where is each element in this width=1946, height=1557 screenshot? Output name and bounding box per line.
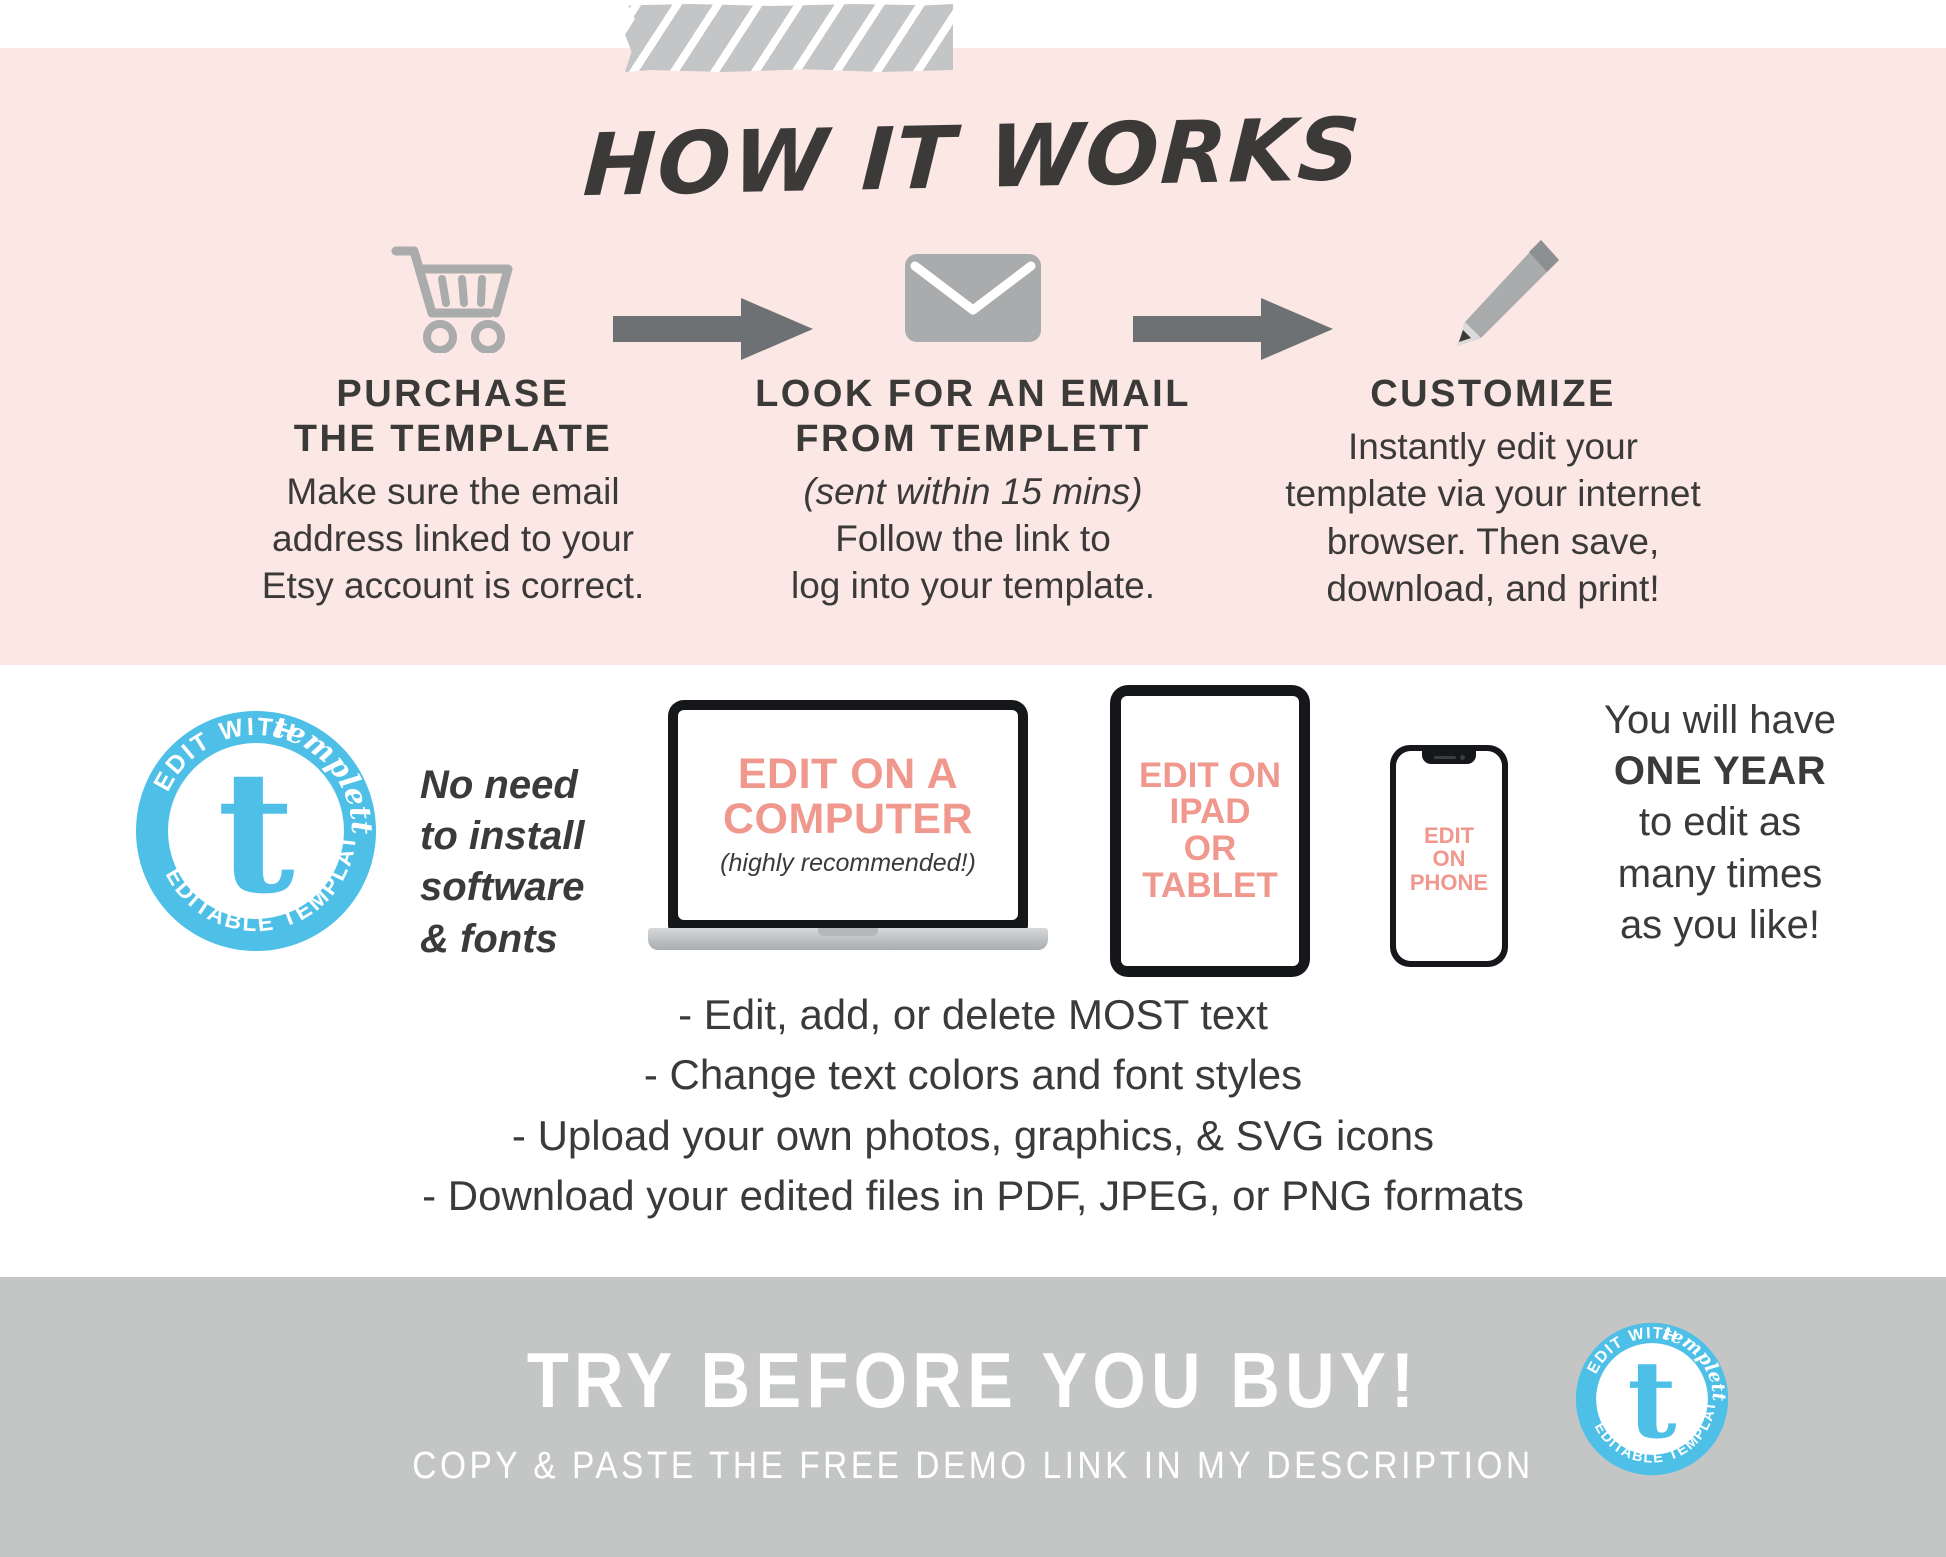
step-customize-body: Instantly edit your template via your in… <box>1233 423 1753 612</box>
phone-screen: EDIT ON PHONE <box>1396 751 1502 961</box>
step-purchase-body-line3: Etsy account is correct. <box>193 562 713 609</box>
laptop-line2: COMPUTER <box>723 797 973 842</box>
step-email-body-line2: Follow the link to <box>713 515 1233 562</box>
step-customize-body-line2: template via your internet <box>1233 470 1753 517</box>
tablet-screen: EDIT ON IPAD OR TABLET <box>1121 696 1299 966</box>
pencil-icon <box>1233 238 1753 358</box>
templett-badge: EDIT WITH templett EDITABLE TEMPLATE t <box>130 705 382 957</box>
tablet-line1: EDIT ON <box>1139 758 1281 795</box>
step-email-body-line1: (sent within 15 mins) <box>713 468 1233 515</box>
step-purchase-heading-line2: THE TEMPLATE <box>193 417 713 462</box>
page-title-text: HOW IT WORKS <box>581 100 1364 216</box>
feature-list: - Edit, add, or delete MOST text - Chang… <box>0 985 1946 1227</box>
steps-row: PURCHASE THE TEMPLATE Make sure the emai… <box>0 238 1946 658</box>
no-install-line2: to install <box>420 811 620 862</box>
step-email-body: (sent within 15 mins) Follow the link to… <box>713 468 1233 610</box>
step-email-heading-line2: FROM TEMPLETT <box>713 417 1233 462</box>
phone-screen-text: EDIT ON PHONE <box>1410 824 1488 893</box>
step-purchase-body-line1: Make sure the email <box>193 468 713 515</box>
step-email-heading: LOOK FOR AN EMAIL FROM TEMPLETT <box>713 372 1233 462</box>
washi-tape-icon <box>625 4 953 72</box>
step-email: LOOK FOR AN EMAIL FROM TEMPLETT (sent wi… <box>713 238 1233 610</box>
list-item: - Download your edited files in PDF, JPE… <box>0 1166 1946 1226</box>
laptop-note: (highly recommended!) <box>720 849 976 878</box>
footer-section: TRY BEFORE YOU BUY! COPY & PASTE THE FRE… <box>0 1277 1946 1557</box>
laptop-line1: EDIT ON A <box>723 752 973 797</box>
no-install-line1: No need <box>420 760 620 811</box>
tablet-line3: OR <box>1139 831 1281 868</box>
features-section: EDIT WITH templett EDITABLE TEMPLATE t N… <box>0 665 1946 1277</box>
badge-center-letter: t <box>1627 1338 1676 1463</box>
tablet-icon: EDIT ON IPAD OR TABLET <box>1110 685 1310 977</box>
one-year-text: You will have ONE YEAR to edit as many t… <box>1520 695 1920 951</box>
how-it-works-section: HOW IT WORKS <box>0 48 1946 665</box>
step-customize: CUSTOMIZE Instantly edit your template v… <box>1233 238 1753 612</box>
step-customize-body-line3: browser. Then save, <box>1233 518 1753 565</box>
one-year-line2: ONE YEAR <box>1614 749 1826 793</box>
list-item: - Change text colors and font styles <box>0 1045 1946 1105</box>
top-white-strip <box>0 0 1946 48</box>
tablet-line4: TABLET <box>1139 868 1281 905</box>
step-customize-body-line1: Instantly edit your <box>1233 423 1753 470</box>
phone-notch <box>1422 751 1476 764</box>
step-email-body-line3: log into your template. <box>713 562 1233 609</box>
tablet-line2: IPAD <box>1139 794 1281 831</box>
step-purchase-heading-line1: PURCHASE <box>193 372 713 417</box>
laptop-trackpad-notch <box>818 928 878 936</box>
step-purchase-body: Make sure the email address linked to yo… <box>193 468 713 610</box>
badge-center-letter: t <box>217 733 295 931</box>
step-purchase-heading: PURCHASE THE TEMPLATE <box>193 372 713 462</box>
no-install-text: No need to install software & fonts <box>420 760 620 965</box>
phone-camera-icon <box>1460 755 1465 760</box>
laptop-lid: EDIT ON A COMPUTER (highly recommended!) <box>668 700 1028 930</box>
step-email-heading-line1: LOOK FOR AN EMAIL <box>713 372 1233 417</box>
phone-line3: PHONE <box>1410 871 1488 894</box>
laptop-screen: EDIT ON A COMPUTER (highly recommended!) <box>678 710 1018 920</box>
laptop-screen-headline: EDIT ON A COMPUTER <box>723 752 973 841</box>
step-customize-heading: CUSTOMIZE <box>1233 372 1753 417</box>
list-item: - Edit, add, or delete MOST text <box>0 985 1946 1045</box>
laptop-icon: EDIT ON A COMPUTER (highly recommended!) <box>648 700 1048 970</box>
step-purchase-body-line2: address linked to your <box>193 515 713 562</box>
no-install-line3: software <box>420 862 620 913</box>
step-customize-body-line4: download, and print! <box>1233 565 1753 612</box>
page-title: HOW IT WORKS <box>0 108 1946 208</box>
step-customize-heading-line1: CUSTOMIZE <box>1233 372 1753 417</box>
templett-badge-footer: EDIT WITH templett EDITABLE TEMPLATE t <box>1572 1319 1732 1479</box>
tablet-screen-text: EDIT ON IPAD OR TABLET <box>1139 758 1281 905</box>
one-year-line1: You will have <box>1520 695 1920 746</box>
one-year-line3: to edit as <box>1520 797 1920 848</box>
phone-icon: EDIT ON PHONE <box>1390 745 1508 967</box>
list-item: - Upload your own photos, graphics, & SV… <box>0 1106 1946 1166</box>
one-year-line4: many times <box>1520 849 1920 900</box>
phone-speaker-icon <box>1434 756 1456 759</box>
phone-line2: ON <box>1410 847 1488 870</box>
step-purchase: PURCHASE THE TEMPLATE Make sure the emai… <box>193 238 713 610</box>
one-year-line5: as you like! <box>1520 900 1920 951</box>
no-install-line4: & fonts <box>420 914 620 965</box>
phone-line1: EDIT <box>1410 824 1488 847</box>
